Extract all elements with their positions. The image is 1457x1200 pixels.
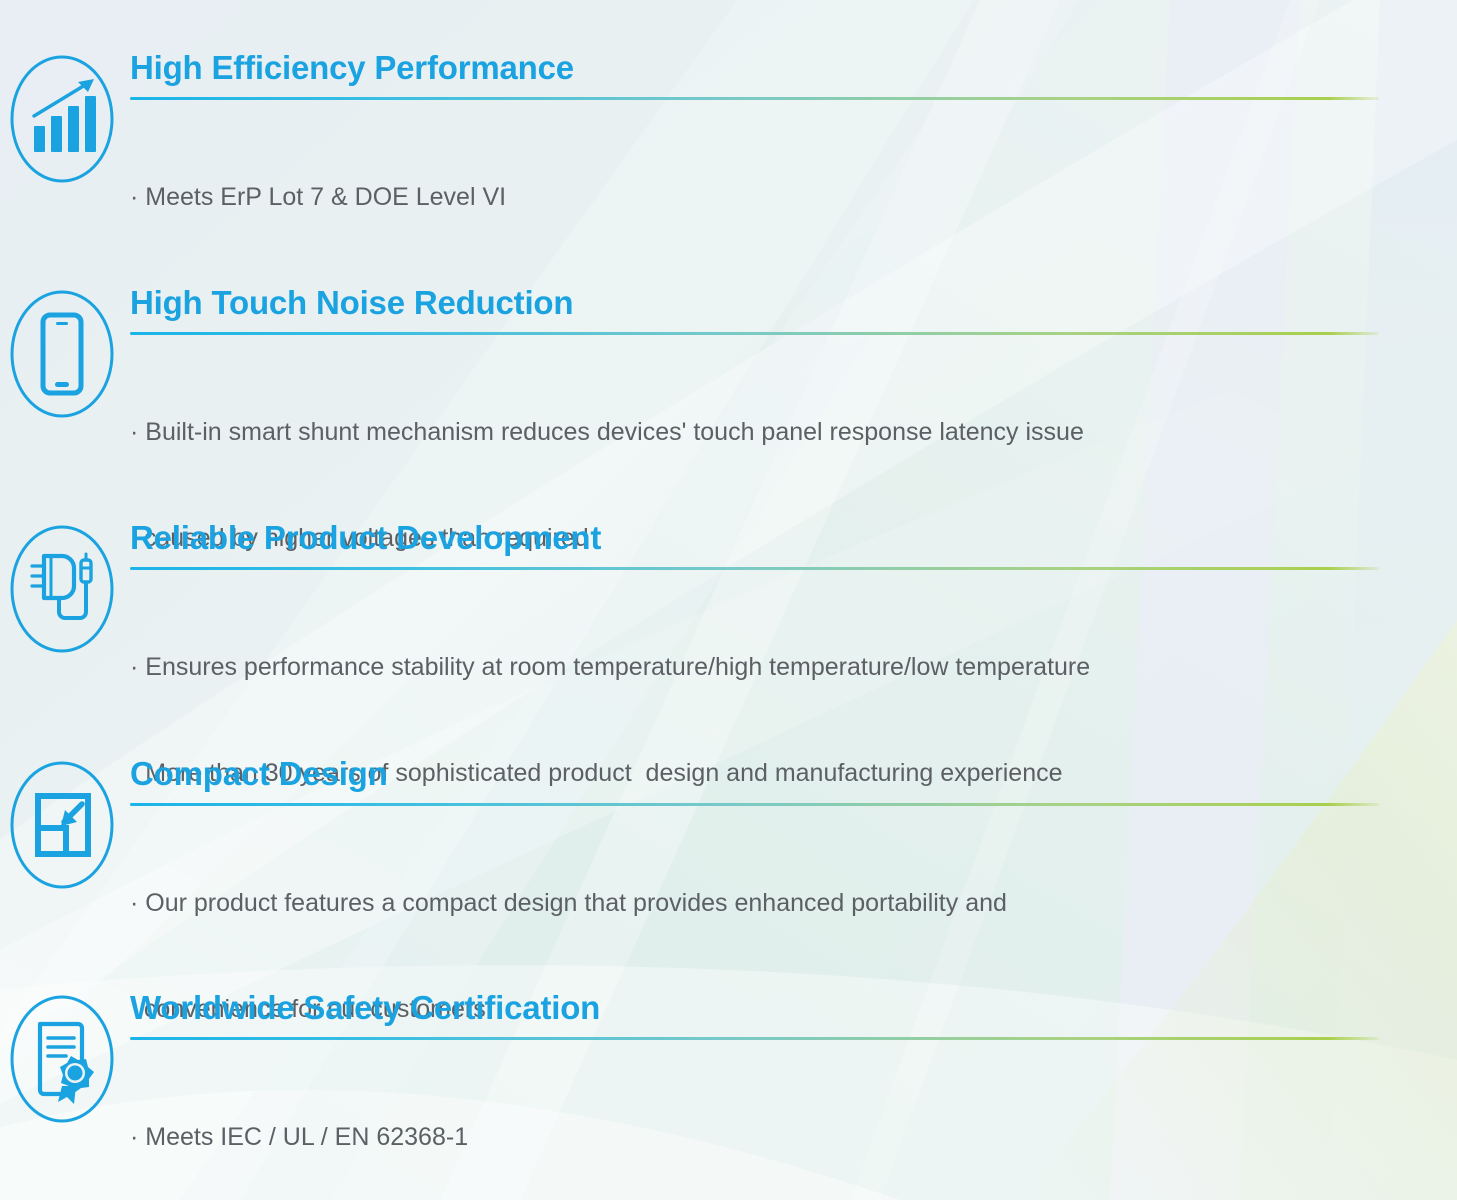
feature-description-line: · Built-in smart shunt mechanism reduces… [130,415,1379,451]
feature-icon-container [0,990,124,1124]
smartphone-icon [8,289,116,419]
feature-list: High Efficiency Performance · Meets ErP … [0,0,1457,1200]
feature-description-line: · Meets ErP Lot 7 & DOE Level VI [130,180,1379,216]
feature-title: Compact Design [130,756,1379,792]
feature-item-high-efficiency-performance: High Efficiency Performance · Meets ErP … [0,50,1457,286]
feature-icon-container [0,756,124,890]
feature-icon-container [0,285,124,419]
feature-description-line: · Our product features a compact design … [130,886,1379,922]
feature-divider [130,332,1379,335]
feature-text-block: High Efficiency Performance · Meets ErP … [124,50,1457,286]
feature-description: · Meets ErP Lot 7 & DOE Level VI [130,109,1379,287]
feature-title: Worldwide Safety Certification [130,990,1379,1026]
feature-description-line: · Meets IEC / UL / EN 62368-1 [130,1120,1379,1156]
compact-resize-icon [8,760,116,890]
power-adapter-icon [8,524,116,654]
feature-divider [130,567,1379,570]
feature-divider [130,1037,1379,1040]
feature-icon-container [0,50,124,184]
feature-item-worldwide-safety-certification: Worldwide Safety Certification · Meets I… [0,990,1457,1200]
certificate-award-icon [8,994,116,1124]
feature-description: · Meets IEC / UL / EN 62368-1 [130,1049,1379,1200]
feature-title: High Touch Noise Reduction [130,285,1379,321]
feature-divider [130,803,1379,806]
feature-title: High Efficiency Performance [130,50,1379,86]
feature-description-line: · Ensures performance stability at room … [130,650,1379,686]
bar-chart-growth-icon [8,54,116,184]
feature-text-block: Worldwide Safety Certification · Meets I… [124,990,1457,1200]
feature-icon-container [0,520,124,654]
feature-divider [130,97,1379,100]
feature-title: Reliable Product Development [130,520,1379,556]
